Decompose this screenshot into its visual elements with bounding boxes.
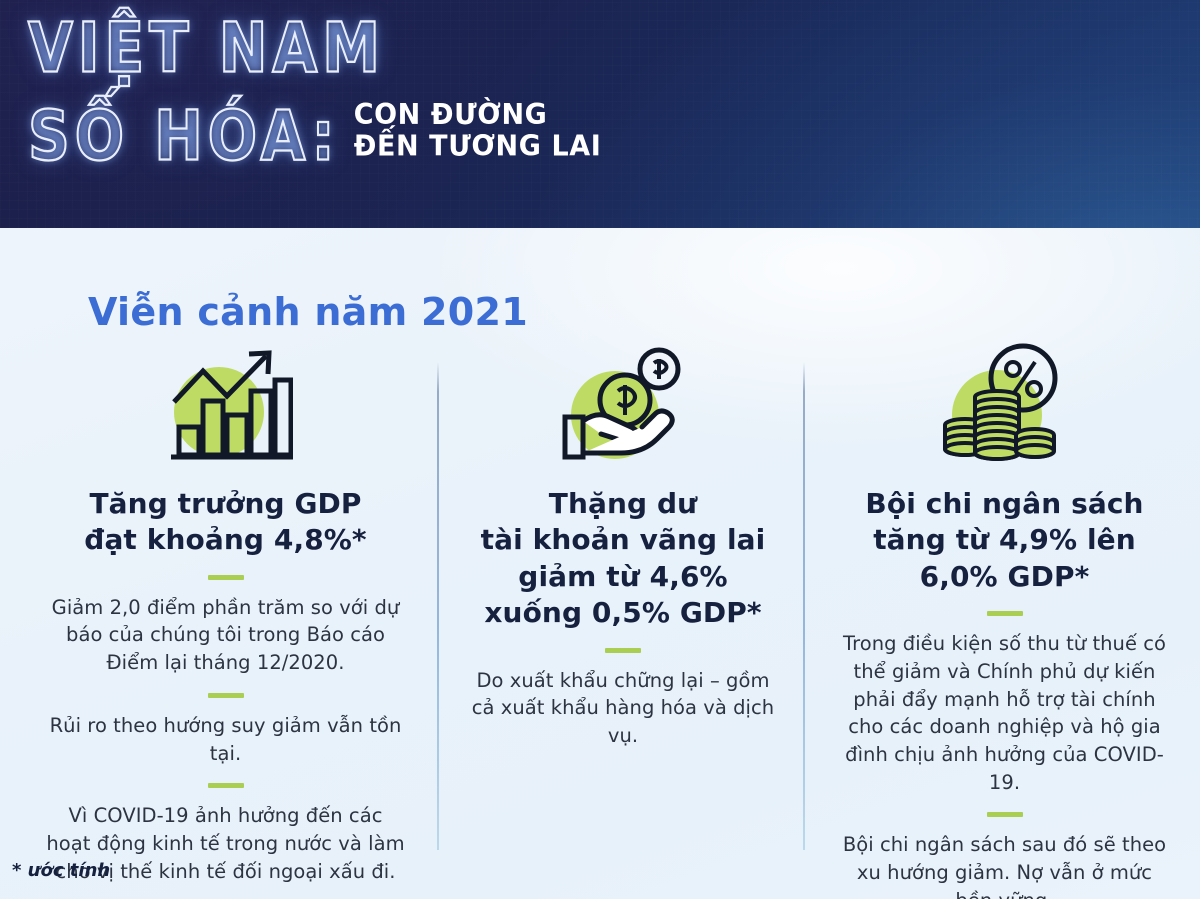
infographic-page: VIỆT NAM SỐ HÓA: CON ĐƯỜNG ĐẾN TƯƠNG LAI… (0, 0, 1200, 899)
coin-stacks-percent-icon (837, 340, 1172, 472)
title-second-row: SỐ HÓA: CON ĐƯỜNG ĐẾN TƯƠNG LAI (28, 103, 1128, 169)
subtitle-line-1: CON ĐƯỜNG (354, 99, 602, 131)
headline-line: xuống 0,5% GDP* (463, 595, 783, 631)
stat-column-fiscal-deficit: Bội chi ngân sách tăng từ 4,9% lên 6,0% … (803, 340, 1200, 899)
green-divider (605, 648, 641, 653)
headline-line: 6,0% GDP* (837, 559, 1172, 595)
stat-paragraph: Bội chi ngân sách sau đó sẽ theo xu hướn… (837, 831, 1172, 899)
title-line-2: SỐ HÓA: (28, 105, 340, 170)
stat-column-current-account: Thặng dư tài khoản vãng lai giảm từ 4,6%… (437, 340, 803, 899)
footnote: * ước tính (12, 860, 110, 881)
green-divider (208, 575, 244, 580)
green-divider (208, 783, 244, 788)
stat-paragraph: Trong điều kiện số thu từ thuế có thể gi… (837, 630, 1172, 796)
body-area: Viễn cảnh năm 2021 (0, 228, 1200, 899)
green-divider (208, 693, 244, 698)
hand-with-coins-icon (463, 340, 783, 472)
headline-line: giảm từ 4,6% (463, 559, 783, 595)
header-banner: VIỆT NAM SỐ HÓA: CON ĐƯỜNG ĐẾN TƯƠNG LAI (0, 0, 1200, 228)
stat-headline: Bội chi ngân sách tăng từ 4,9% lên 6,0% … (837, 486, 1172, 595)
title-line-1: VIỆT NAM (28, 16, 1128, 81)
stat-paragraph: Giảm 2,0 điểm phần trăm so với dự báo củ… (46, 594, 405, 677)
headline-line: Bội chi ngân sách (837, 486, 1172, 522)
headline-line: đạt khoảng 4,8%* (46, 522, 405, 558)
headline-line: Thặng dư (463, 486, 783, 522)
subtitle-line-2: ĐẾN TƯƠNG LAI (354, 132, 602, 164)
header-subtitle: CON ĐƯỜNG ĐẾN TƯƠNG LAI (354, 99, 602, 163)
green-divider (987, 611, 1023, 616)
title-block: VIỆT NAM SỐ HÓA: CON ĐƯỜNG ĐẾN TƯƠNG LAI (28, 16, 1128, 170)
page-title: Viễn cảnh năm 2021 (88, 290, 528, 334)
stat-headline: Thặng dư tài khoản vãng lai giảm từ 4,6%… (463, 486, 783, 632)
headline-line: Tăng trưởng GDP (46, 486, 405, 522)
bar-chart-growth-icon (46, 340, 405, 472)
headline-line: tăng từ 4,9% lên (837, 522, 1172, 558)
columns-container: Tăng trưởng GDP đạt khoảng 4,8%* Giảm 2,… (0, 340, 1200, 899)
stat-column-gdp: Tăng trưởng GDP đạt khoảng 4,8%* Giảm 2,… (0, 340, 437, 899)
stat-paragraph: Do xuất khẩu chững lại – gồm cả xuất khẩ… (463, 667, 783, 750)
headline-line: tài khoản vãng lai (463, 522, 783, 558)
green-divider (987, 812, 1023, 817)
stat-headline: Tăng trưởng GDP đạt khoảng 4,8%* (46, 486, 405, 559)
stat-paragraph: Rủi ro theo hướng suy giảm vẫn tồn tại. (46, 712, 405, 767)
